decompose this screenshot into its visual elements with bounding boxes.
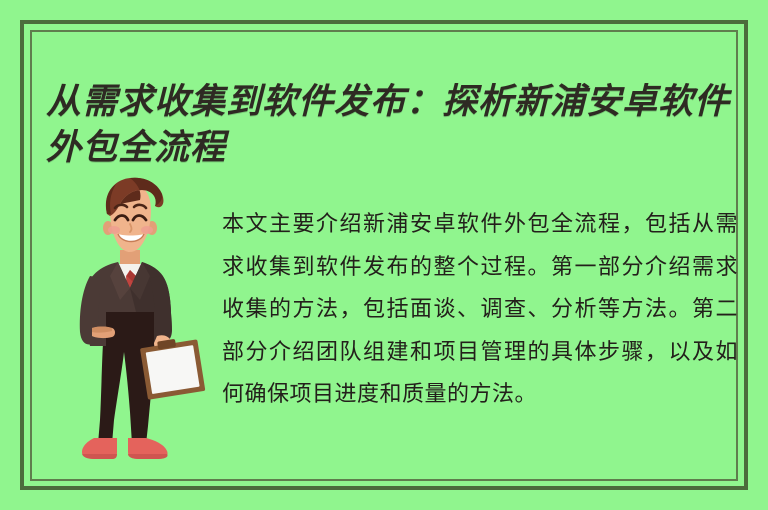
article-summary: 本文主要介绍新浦安卓软件外包全流程，包括从需求收集到软件发布的整个过程。第一部分…: [222, 204, 738, 417]
businessman-illustration: [62, 176, 212, 476]
shoes-shape: [82, 438, 168, 459]
page-title: 从需求收集到软件发布：探析新浦安卓软件外包全流程: [46, 79, 746, 171]
article-card: 从需求收集到软件发布：探析新浦安卓软件外包全流程: [0, 0, 768, 510]
head-shape: [103, 178, 163, 252]
